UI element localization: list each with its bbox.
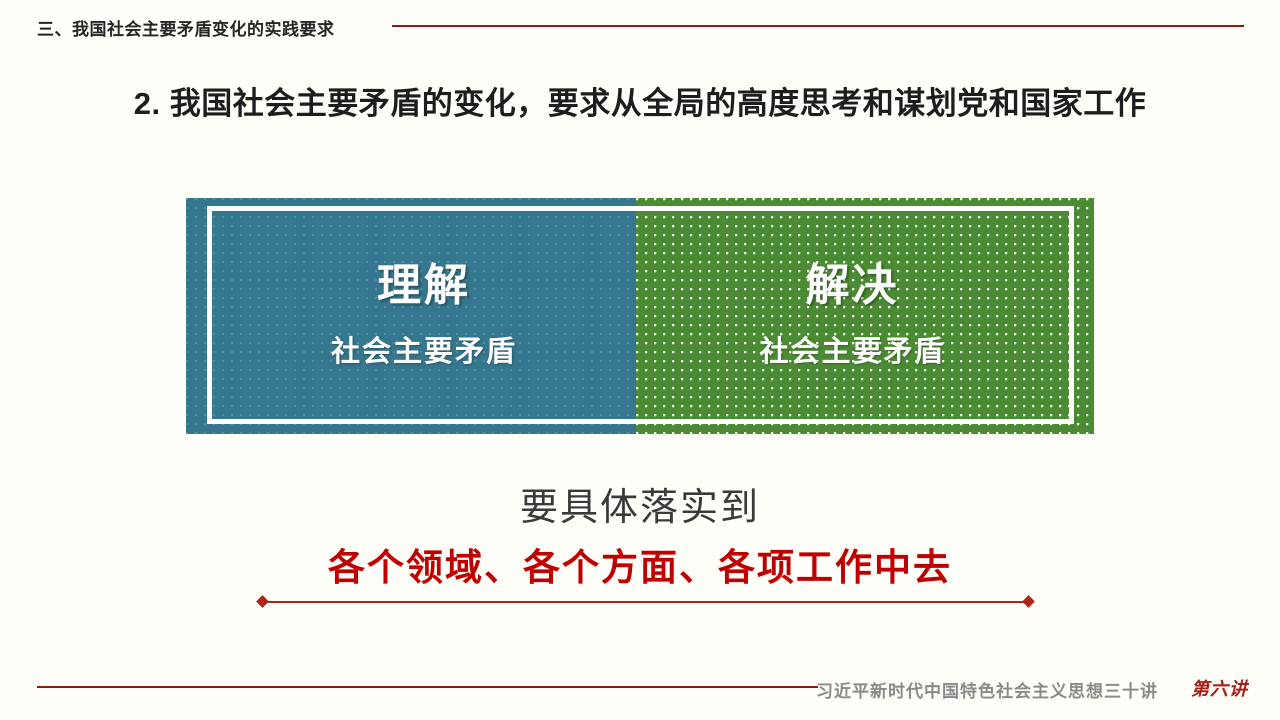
footer-series-title: 习近平新时代中国特色社会主义思想三十讲 xyxy=(816,677,1158,702)
footer-divider-line xyxy=(37,686,818,688)
conclusion-emphasis-text: 各个领域、各个方面、各项工作中去 xyxy=(0,537,1280,591)
panel-heading-resolve: 解决 xyxy=(806,264,900,308)
slide-header: 三、我国社会主要矛盾变化的实践要求 xyxy=(0,0,1280,52)
panel-heading-understand: 理解 xyxy=(377,264,471,308)
diagram-panel-understand: 理解 社会主要矛盾 xyxy=(186,198,636,434)
panel-subheading-understand: 社会主要矛盾 xyxy=(331,338,517,367)
section-label: 三、我国社会主要矛盾变化的实践要求 xyxy=(37,15,335,40)
conclusion-lead-text: 要具体落实到 xyxy=(0,476,1280,531)
decorative-rule-bar xyxy=(264,601,1027,603)
two-panel-diagram: 理解 社会主要矛盾 解决 社会主要矛盾 xyxy=(186,198,1094,434)
header-divider-line xyxy=(392,25,1244,27)
panel-inner-frame: 解决 社会主要矛盾 xyxy=(636,206,1074,424)
panel-subheading-resolve: 社会主要矛盾 xyxy=(759,338,945,367)
footer-lecture-label: 第六讲 xyxy=(1191,675,1248,701)
diamond-bullet-icon xyxy=(1022,595,1035,608)
page-title: 2. 我国社会主要矛盾的变化，要求从全局的高度思考和谋划党和国家工作 xyxy=(0,78,1280,123)
decorative-rule xyxy=(258,595,1033,609)
panel-inner-frame: 理解 社会主要矛盾 xyxy=(207,206,636,424)
diagram-panel-resolve: 解决 社会主要矛盾 xyxy=(636,198,1094,434)
